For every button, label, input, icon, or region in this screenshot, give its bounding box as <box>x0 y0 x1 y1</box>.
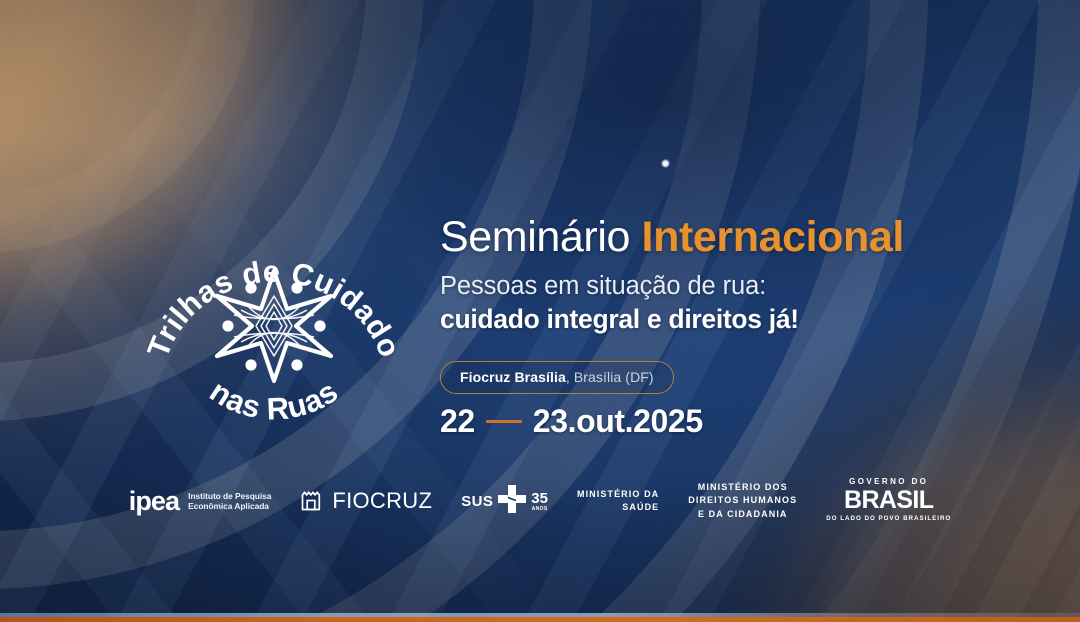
mdh-line-1: MINISTÉRIO DOS <box>698 482 788 492</box>
ministerio-saude-line-2: SAÚDE <box>622 502 659 512</box>
headline-plain: Seminário <box>440 213 630 261</box>
event-banner: Trilhas de Cuidado nas Ruas <box>0 0 1080 622</box>
ministerio-saude-line-1: MINISTÉRIO DA <box>577 489 659 499</box>
fiocruz-wordmark: FIOCRUZ <box>332 490 432 512</box>
event-date: 22 23.out.2025 <box>440 403 1000 440</box>
ministerio-saude-text: MINISTÉRIO DA SAÚDE <box>577 488 659 515</box>
ministerio-direitos-humanos-text: MINISTÉRIO DOS DIREITOS HUMANOS E DA CID… <box>688 481 797 522</box>
ipea-tagline: Instituto de Pesquisa Econômica Aplicada <box>188 491 271 512</box>
venue-city: , Brasília (DF) <box>566 369 654 385</box>
sponsor-logo-ministerio-saude: MINISTÉRIO DA SAÚDE <box>577 478 659 524</box>
subtitle-line-1: Pessoas em situação de rua: <box>440 271 1000 302</box>
date-separator-dash <box>486 420 522 424</box>
sus-anniversary-label: ANOS <box>532 507 548 512</box>
sponsor-logo-fiocruz: FIOCRUZ <box>300 478 432 524</box>
sus-anniversary-number: 35 <box>531 491 548 506</box>
date-end: 23.out.2025 <box>533 403 703 440</box>
ipea-wordmark: ipea <box>129 488 179 515</box>
sponsor-logo-ministerio-direitos-humanos: MINISTÉRIO DOS DIREITOS HUMANOS E DA CID… <box>688 478 797 524</box>
fiocruz-castle-icon <box>300 486 326 516</box>
sponsor-logo-governo-do-brasil: GOVERNO DO BRASIL DO LADO DO POVO BRASIL… <box>826 478 951 524</box>
page-title: Seminário Internacional <box>440 214 1000 260</box>
headline-accent: Internacional <box>642 213 904 261</box>
star-speck-icon <box>661 159 670 168</box>
ipea-tagline-line-2: Econômica Aplicada <box>188 501 269 511</box>
subtitle-line-2: cuidado integral e direitos já! <box>440 304 1000 336</box>
venue-badge: Fiocruz Brasília , Brasília (DF) <box>440 361 674 394</box>
banner-content: Seminário Internacional Pessoas em situa… <box>440 214 1000 440</box>
venue-name: Fiocruz Brasília <box>460 369 566 385</box>
date-start: 22 <box>440 403 475 440</box>
sus-anniversary: 35 ANOS <box>531 491 548 512</box>
sponsor-logo-bar: ipea Instituto de Pesquisa Econômica Apl… <box>0 470 1080 532</box>
governo-top-label: GOVERNO DO <box>849 478 928 486</box>
mdh-line-2: DIREITOS HUMANOS <box>688 495 797 505</box>
sponsor-logo-ipea: ipea Instituto de Pesquisa Econômica Apl… <box>129 478 272 524</box>
governo-bottom-label: DO LADO DO POVO BRASILEIRO <box>826 516 951 522</box>
bottom-orange-accent-bar <box>0 617 1080 622</box>
sponsor-logo-sus: SUS 35 ANOS <box>461 478 548 524</box>
ipea-tagline-line-1: Instituto de Pesquisa <box>188 491 271 501</box>
event-logo: Trilhas de Cuidado nas Ruas <box>143 208 405 440</box>
governo-brasil-wordmark: BRASIL <box>844 488 933 513</box>
sus-cross-icon <box>497 484 527 519</box>
mdh-line-3: E DA CIDADANIA <box>698 509 788 519</box>
sus-wordmark: SUS <box>461 494 493 509</box>
